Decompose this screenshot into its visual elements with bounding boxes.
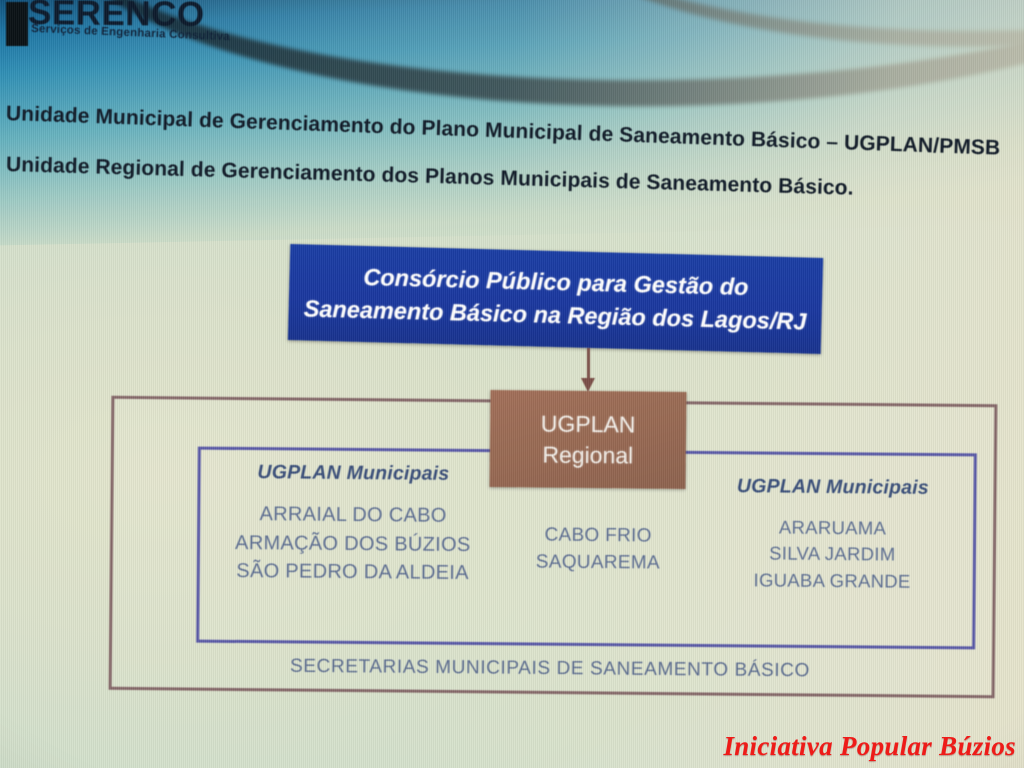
watermark-iniciativa-popular-buzios: Iniciativa Popular Búzios [723, 731, 1016, 762]
slide-photo: SERENCO Serviços de Engenharia Consultiv… [0, 0, 1024, 768]
photo-vignette [0, 0, 1024, 768]
